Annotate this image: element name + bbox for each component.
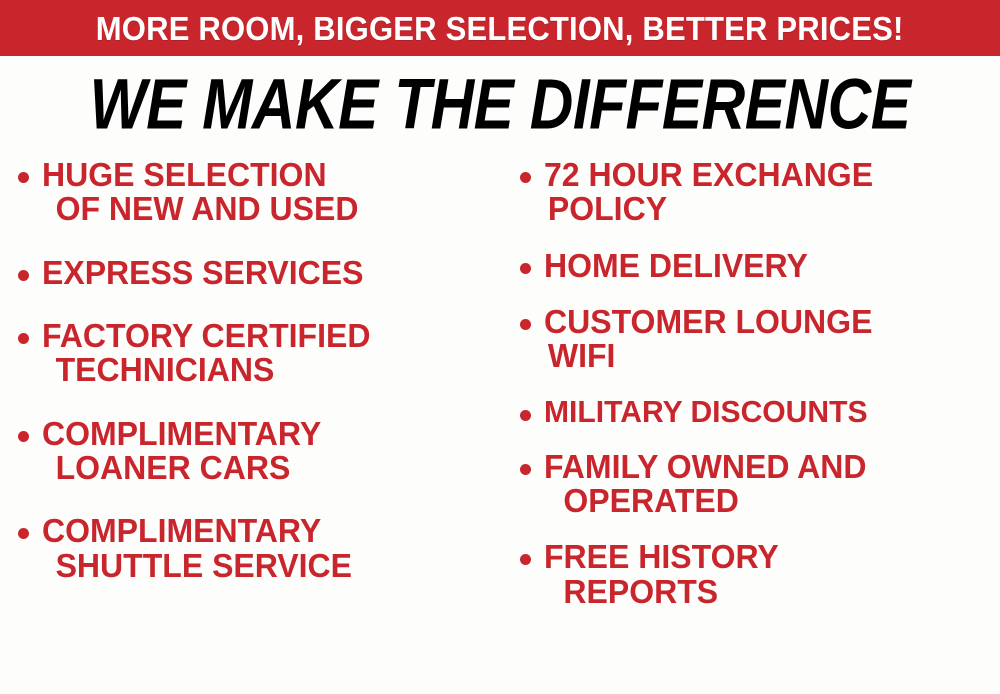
list-item-text: HUGE SELECTION OF NEW AND USED [42,158,368,227]
promo-banner: MORE ROOM, BIGGER SELECTION, BETTER PRIC… [0,0,1000,56]
list-item-text: COMPLIMENTARY LOANER CARS [42,417,330,486]
list-item: HUGE SELECTION OF NEW AND USED [18,158,496,227]
list-item-text: 72 HOUR EXCHANGE POLICY [544,158,883,227]
list-item-line-1: MILITARY DISCOUNTS [544,396,868,428]
list-item-line-2: OF NEW AND USED [42,192,358,226]
list-item-line-1: COMPLIMENTARY [42,417,321,451]
list-item-line-2: LOANER CARS [42,451,321,485]
headline-container: WE MAKE THE DIFFERENCE [0,62,1000,146]
bullet-dot-icon [520,319,531,330]
list-item-line-2: REPORTS [544,575,779,609]
list-item-line-1: COMPLIMENTARY [42,514,352,548]
list-item: MILITARY DISCOUNTS [520,396,1000,428]
list-item-line-1: HUGE SELECTION [42,158,358,192]
list-item-line-2: WIFI [544,339,872,373]
list-item: 72 HOUR EXCHANGE POLICY [520,158,1000,227]
bullet-dot-icon [18,528,29,539]
list-item-line-2: SHUTTLE SERVICE [42,549,352,583]
list-item-text: COMPLIMENTARY SHUTTLE SERVICE [42,514,362,583]
list-item-text: CUSTOMER LOUNGE WIFI [544,305,883,374]
list-item-line-2: TECHNICIANS [42,353,370,387]
bullet-dot-icon [520,263,531,274]
list-item-text: MILITARY DISCOUNTS [544,396,878,428]
list-item: COMPLIMENTARY LOANER CARS [18,417,496,486]
list-item-text: FACTORY CERTIFIED TECHNICIANS [42,319,381,388]
bullet-dot-icon [520,410,531,421]
bullet-dot-icon [18,431,29,442]
list-item-text: EXPRESS SERVICES [42,256,373,290]
bullet-dot-icon [18,333,29,344]
list-item: FREE HISTORY REPORTS [520,540,1000,609]
list-item-line-1: FAMILY OWNED AND [544,450,866,484]
list-item-text: HOME DELIVERY [544,249,816,283]
list-item: FAMILY OWNED AND OPERATED [520,450,1000,519]
list-item-line-1: EXPRESS SERVICES [42,256,363,290]
features-columns: HUGE SELECTION OF NEW AND USED EXPRESS S… [0,158,1000,694]
promo-banner-text: MORE ROOM, BIGGER SELECTION, BETTER PRIC… [96,12,904,45]
list-item-line-1: FACTORY CERTIFIED [42,319,370,353]
list-item-line-2: POLICY [544,192,873,226]
list-item: EXPRESS SERVICES [18,256,496,290]
bullet-dot-icon [18,270,29,281]
bullet-dot-icon [520,172,531,183]
list-item-text: FAMILY OWNED AND OPERATED [544,450,876,519]
list-item-line-1: 72 HOUR EXCHANGE [544,158,873,192]
bullet-dot-icon [18,172,29,183]
features-column-right: 72 HOUR EXCHANGE POLICY HOME DELIVERY CU… [500,158,1000,631]
list-item-line-1: HOME DELIVERY [544,249,808,283]
list-item: FACTORY CERTIFIED TECHNICIANS [18,319,496,388]
list-item: COMPLIMENTARY SHUTTLE SERVICE [18,514,496,583]
list-item-line-1: CUSTOMER LOUNGE [544,305,872,339]
bullet-dot-icon [520,554,531,565]
list-item-line-2: OPERATED [544,484,866,518]
page-title: WE MAKE THE DIFFERENCE [90,68,911,139]
list-item-line-1: FREE HISTORY [544,540,779,574]
bullet-dot-icon [520,464,531,475]
list-item-text: FREE HISTORY REPORTS [544,540,786,609]
list-item: CUSTOMER LOUNGE WIFI [520,305,1000,374]
features-column-left: HUGE SELECTION OF NEW AND USED EXPRESS S… [0,158,500,612]
list-item: HOME DELIVERY [520,249,1000,283]
